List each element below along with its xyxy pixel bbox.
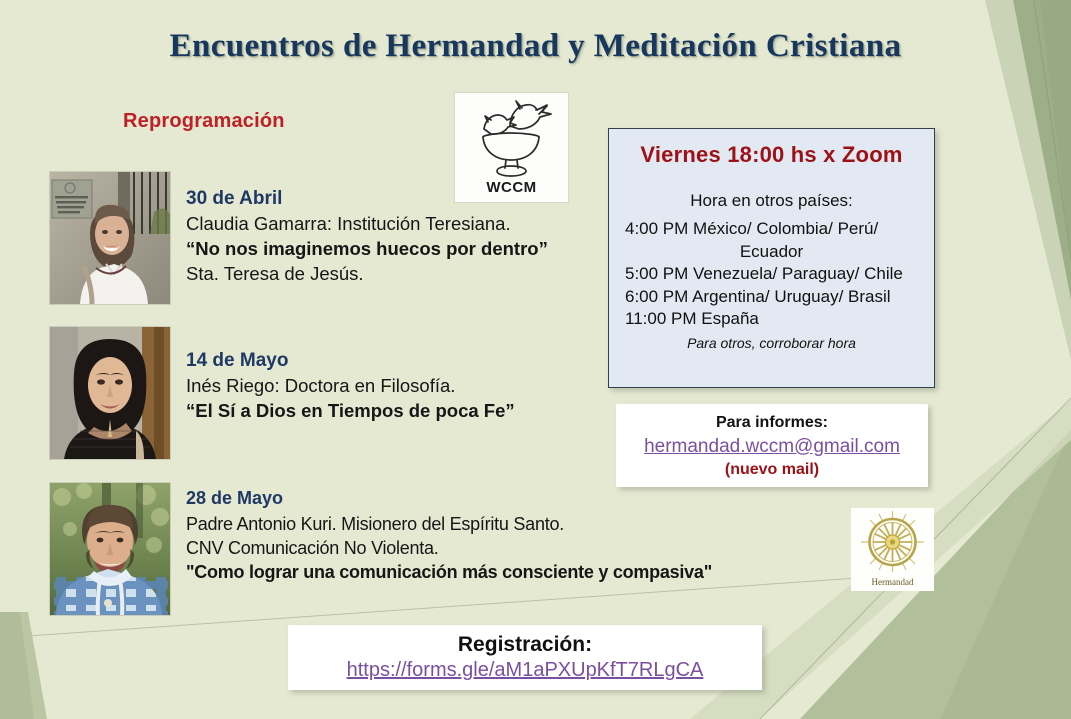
slide-canvas: Encuentros de Hermandad y Meditación Cri… bbox=[0, 0, 1071, 719]
registration-url-link[interactable]: https://forms.gle/aM1aPXUpKfT7RLgCA bbox=[347, 659, 704, 682]
speaker-line: "Como lograr una comunicación más consci… bbox=[186, 560, 712, 584]
schedule-time-row: Ecuador bbox=[609, 241, 934, 264]
schedule-headline: Viernes 18:00 hs x Zoom bbox=[609, 142, 934, 168]
schedule-times: 4:00 PM México/ Colombia/ Perú/ Ecuador … bbox=[609, 218, 934, 331]
speaker-line: Padre Antonio Kuri. Misionero del Espíri… bbox=[186, 512, 712, 536]
sun-wheel-icon bbox=[859, 510, 926, 574]
schedule-subtitle: Hora en otros países: bbox=[609, 192, 934, 209]
speaker-text-1: 30 de Abril Claudia Gamarra: Institución… bbox=[186, 186, 548, 286]
speaker-text-3: 28 de Mayo Padre Antonio Kuri. Misionero… bbox=[186, 487, 712, 584]
doves-over-chalice-icon bbox=[483, 101, 551, 176]
hermandad-label: Hermandad bbox=[851, 577, 934, 587]
speaker-date: 14 de Mayo bbox=[186, 348, 515, 373]
schedule-time-row: 11:00 PM España bbox=[609, 308, 934, 331]
speaker-date: 28 de Mayo bbox=[186, 487, 712, 511]
speaker-line: Sta. Teresa de Jesús. bbox=[186, 262, 548, 287]
speaker-line: Claudia Gamarra: Institución Teresiana. bbox=[186, 212, 548, 237]
speaker-text-2: 14 de Mayo Inés Riego: Doctora en Filoso… bbox=[186, 348, 515, 424]
speaker-photo-2 bbox=[50, 327, 170, 459]
contact-note: (nuevo mail) bbox=[616, 461, 928, 479]
contact-heading: Para informes: bbox=[616, 414, 928, 432]
speaker-date: 30 de Abril bbox=[186, 186, 548, 211]
schedule-box: Viernes 18:00 hs x Zoom Hora en otros pa… bbox=[608, 128, 935, 388]
speaker-line: Inés Riego: Doctora en Filosofía. bbox=[186, 374, 515, 399]
schedule-note: Para otros, corroborar hora bbox=[609, 335, 934, 351]
schedule-time-row: 4:00 PM México/ Colombia/ Perú/ bbox=[609, 218, 934, 241]
page-title: Encuentros de Hermandad y Meditación Cri… bbox=[0, 28, 1071, 65]
speaker-line: “El Sí a Dios en Tiempos de poca Fe” bbox=[186, 399, 515, 424]
contact-email-link[interactable]: hermandad.wccm@gmail.com bbox=[644, 436, 900, 458]
speaker-photo-1 bbox=[50, 172, 170, 304]
registration-box: Registración: https://forms.gle/aM1aPXUp… bbox=[288, 625, 762, 690]
speaker-line: CNV Comunicación No Violenta. bbox=[186, 536, 712, 560]
schedule-time-row: 6:00 PM Argentina/ Uruguay/ Brasil bbox=[609, 286, 934, 309]
speaker-line: “No nos imaginemos huecos por dentro” bbox=[186, 237, 548, 262]
registration-heading: Registración: bbox=[288, 633, 762, 657]
hermandad-logo: Hermandad bbox=[851, 508, 934, 591]
contact-box: Para informes: hermandad.wccm@gmail.com … bbox=[616, 404, 928, 487]
speaker-photo-3 bbox=[50, 483, 170, 615]
schedule-time-row: 5:00 PM Venezuela/ Paraguay/ Chile bbox=[609, 263, 934, 286]
reprogram-label: Reprogramación bbox=[123, 110, 285, 133]
